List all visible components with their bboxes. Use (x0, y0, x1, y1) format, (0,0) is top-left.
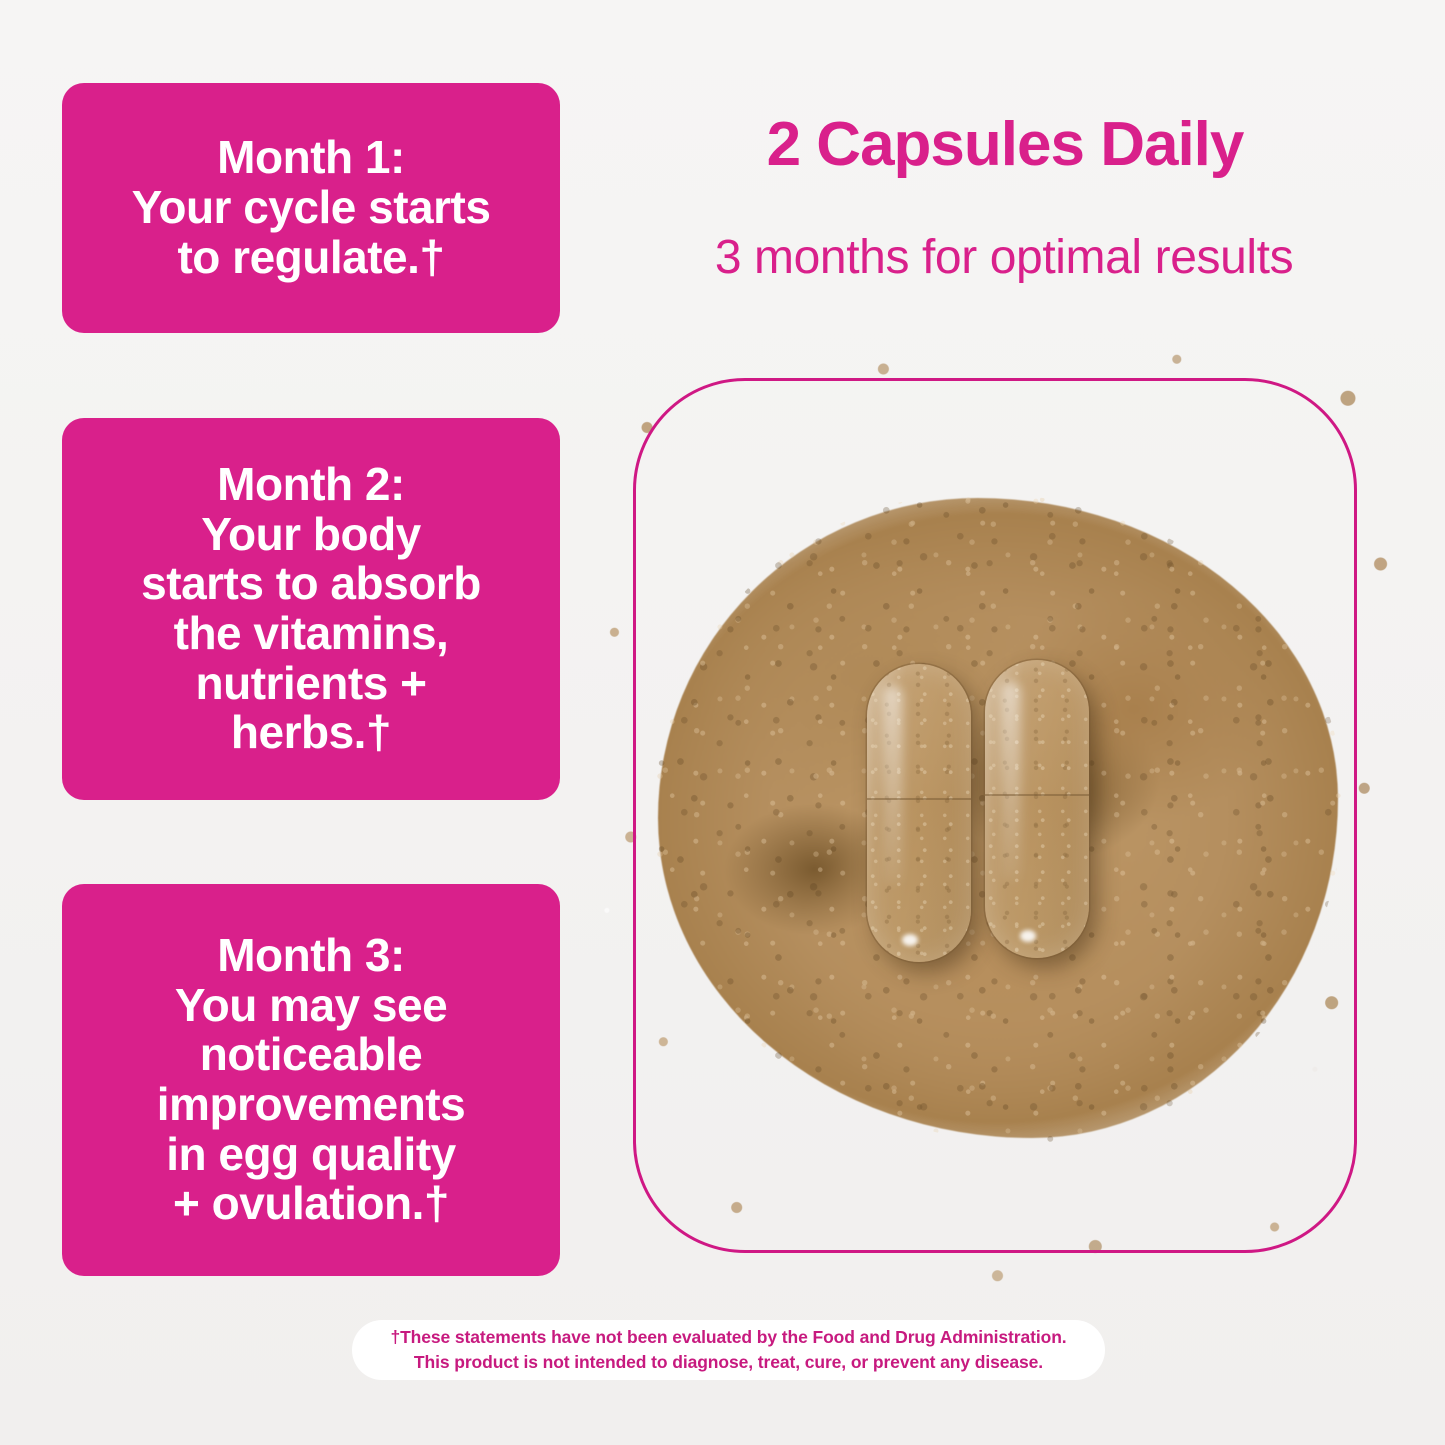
disclaimer-line-2: This product is not intended to diagnose… (414, 1350, 1043, 1375)
timeline-card-month-2-text: Month 2: Your body starts to absorb the … (141, 460, 481, 758)
capsule-right (985, 660, 1089, 958)
timeline-card-month-1: Month 1: Your cycle starts to regulate.† (62, 83, 560, 333)
disclaimer-pill: †These statements have not been evaluate… (352, 1320, 1105, 1380)
product-photo (590, 330, 1405, 1305)
capsule-right-shine (1001, 682, 1021, 882)
timeline-card-month-1-text: Month 1: Your cycle starts to regulate.† (132, 133, 491, 282)
infographic-page: Month 1: Your cycle starts to regulate.†… (0, 0, 1445, 1445)
disclaimer-line-1: †These statements have not been evaluate… (390, 1325, 1066, 1350)
capsule-left-shine (883, 686, 903, 886)
page-title: 2 Capsules Daily (600, 112, 1410, 177)
timeline-card-month-3: Month 3: You may see noticeable improvem… (62, 884, 560, 1276)
page-subtitle: 3 months for optimal results (590, 232, 1418, 285)
timeline-card-month-2: Month 2: Your body starts to absorb the … (62, 418, 560, 800)
timeline-card-month-3-text: Month 3: You may see noticeable improvem… (157, 931, 465, 1229)
capsule-left (867, 664, 971, 962)
